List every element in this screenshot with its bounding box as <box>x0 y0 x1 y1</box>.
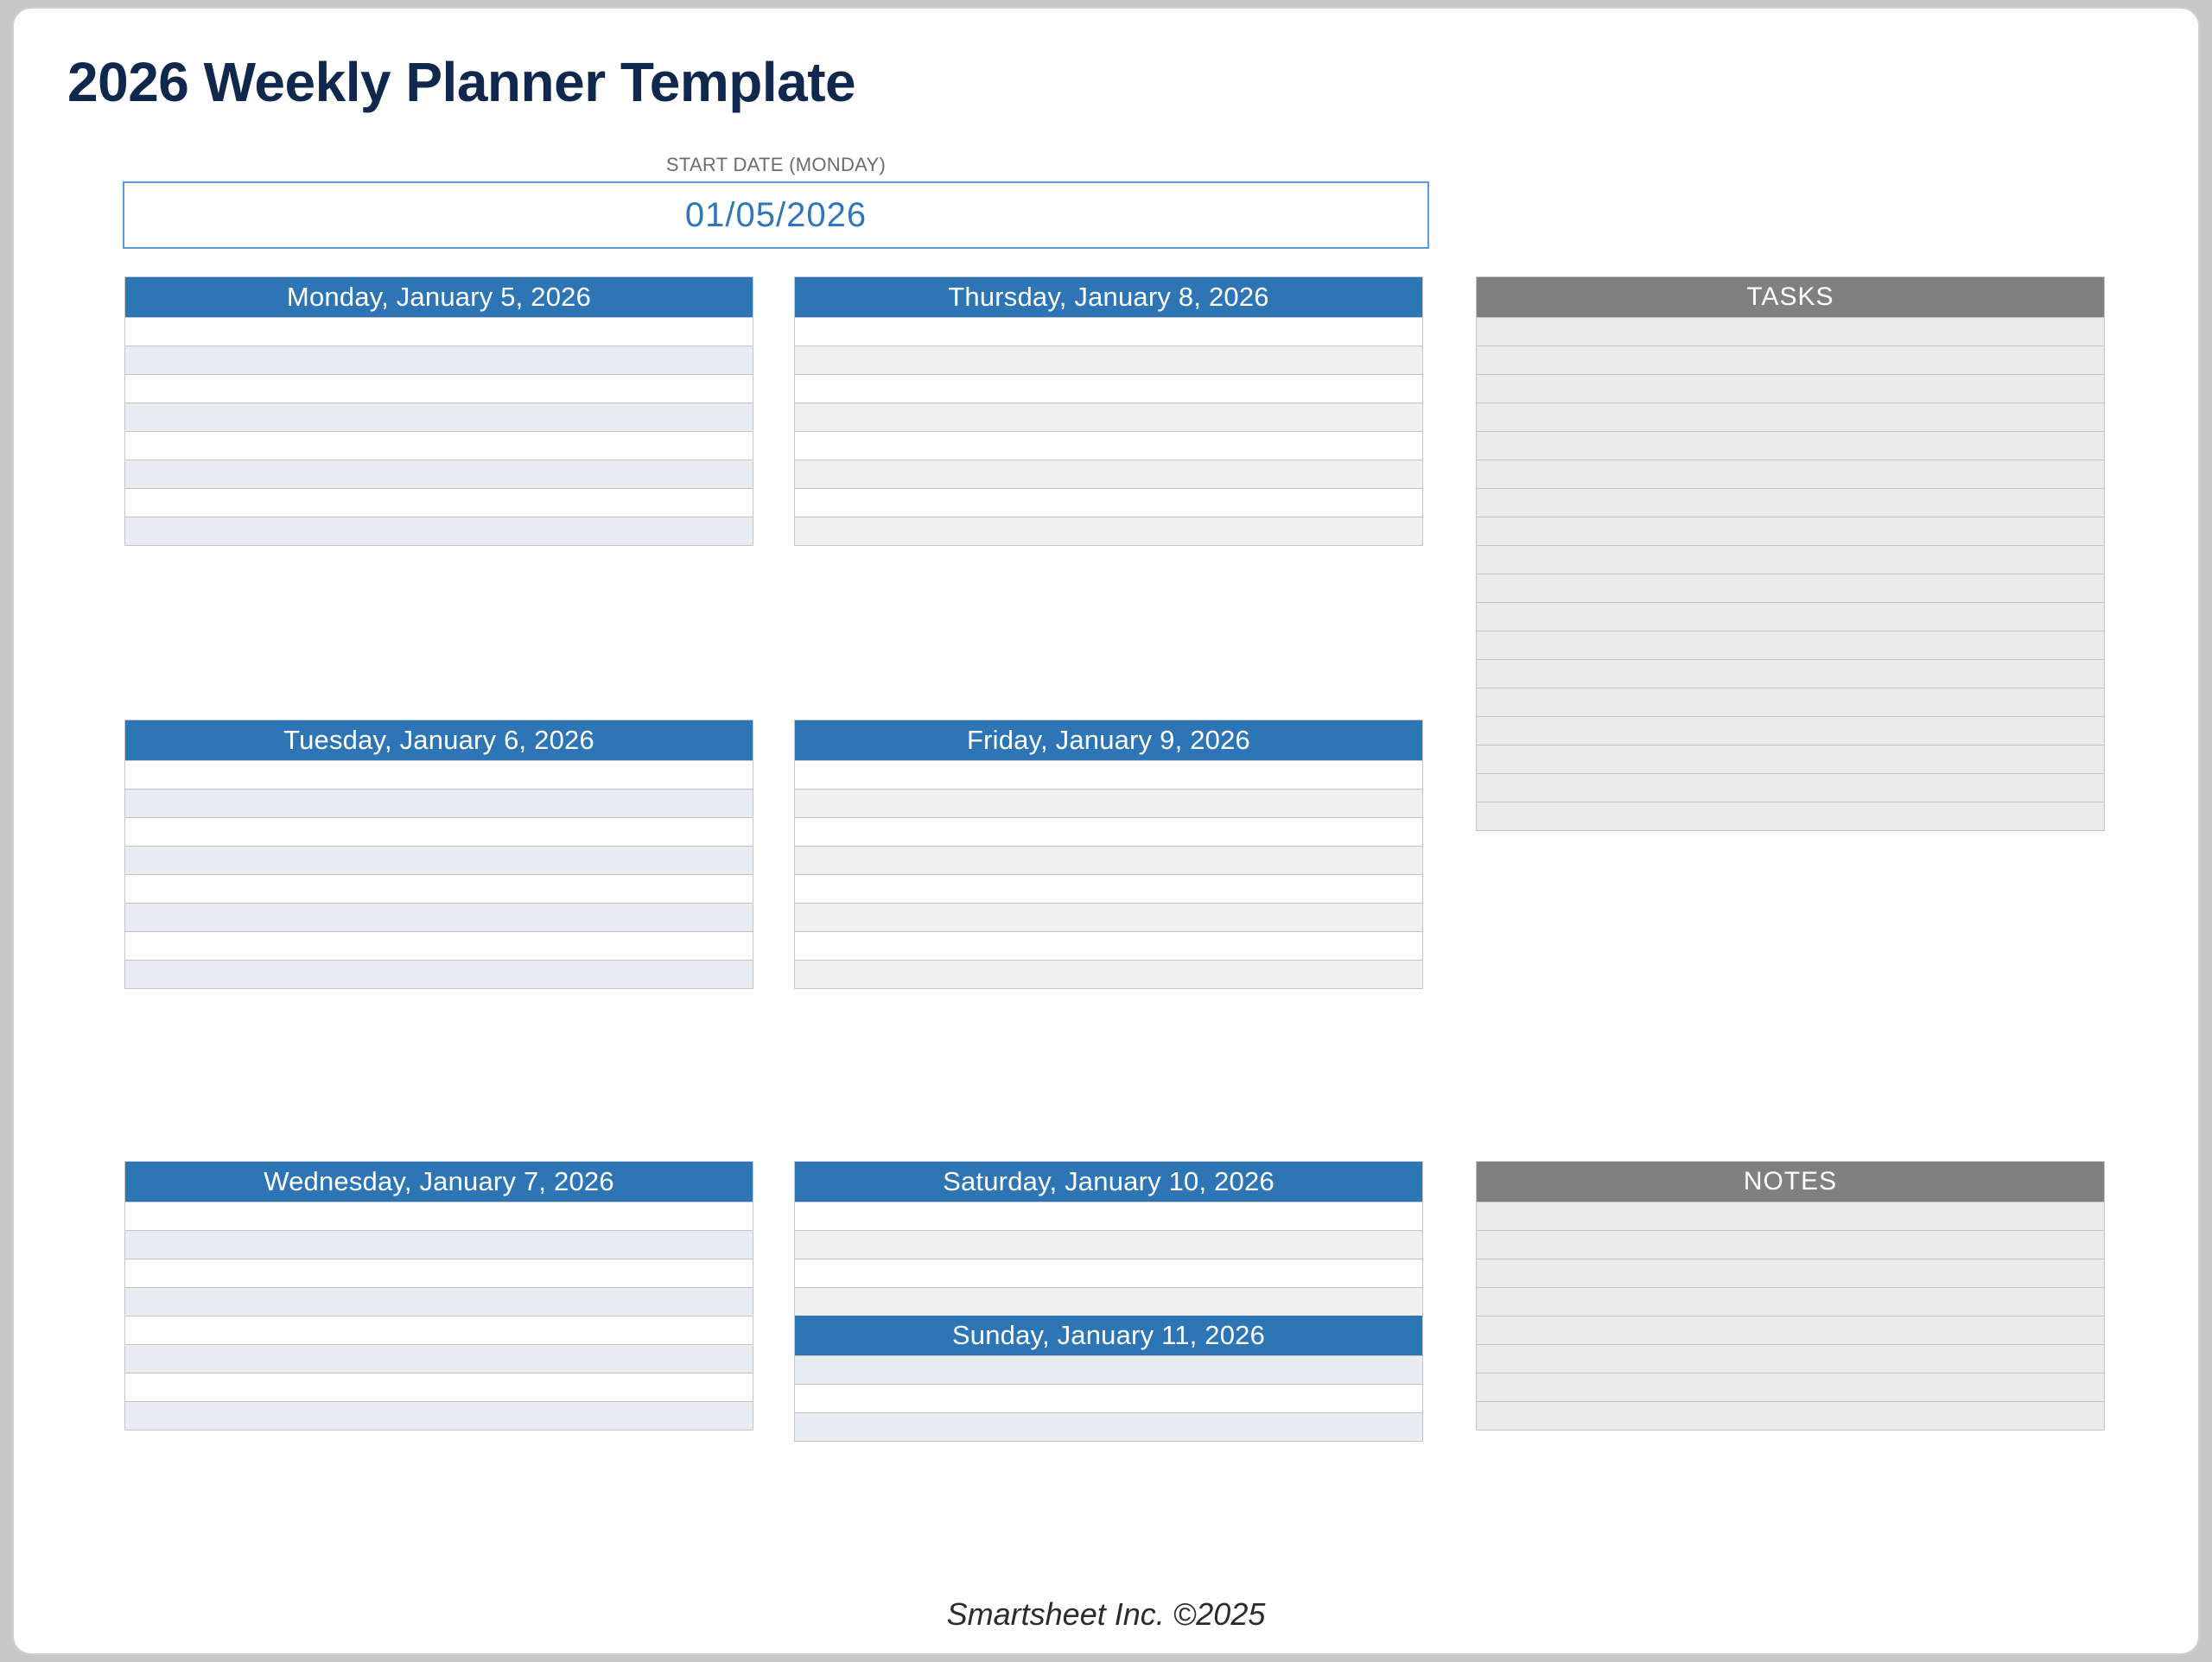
task-row[interactable] <box>1477 631 2104 659</box>
day-monday-row[interactable] <box>125 488 753 517</box>
task-row[interactable] <box>1477 317 2104 346</box>
task-row[interactable] <box>1477 716 2104 745</box>
note-row[interactable] <box>1477 1202 2104 1230</box>
day-wednesday-row[interactable] <box>125 1373 753 1401</box>
day-monday-row[interactable] <box>125 317 753 346</box>
day-thursday-row[interactable] <box>795 460 1422 488</box>
day-tuesday-row[interactable] <box>125 846 753 874</box>
day-tuesday-row[interactable] <box>125 789 753 817</box>
task-row[interactable] <box>1477 488 2104 517</box>
day-wednesday-row[interactable] <box>125 1316 753 1344</box>
day-wednesday-row[interactable] <box>125 1202 753 1230</box>
task-row[interactable] <box>1477 745 2104 773</box>
day-header-thursday: Thursday, January 8, 2026 <box>795 277 1422 317</box>
task-row[interactable] <box>1477 659 2104 688</box>
day-header-friday: Friday, January 9, 2026 <box>795 720 1422 760</box>
note-row[interactable] <box>1477 1401 2104 1430</box>
day-tuesday-row[interactable] <box>125 817 753 846</box>
day-thursday-row[interactable] <box>795 431 1422 460</box>
day-friday-row[interactable] <box>795 874 1422 903</box>
day-thursday-row[interactable] <box>795 403 1422 431</box>
day-saturday-row[interactable] <box>795 1259 1422 1287</box>
day-header-monday: Monday, January 5, 2026 <box>125 277 753 317</box>
task-row[interactable] <box>1477 403 2104 431</box>
task-row[interactable] <box>1477 431 2104 460</box>
day-saturday-row[interactable] <box>795 1287 1422 1316</box>
task-row[interactable] <box>1477 374 2104 403</box>
task-row[interactable] <box>1477 574 2104 602</box>
day-header-tuesday: Tuesday, January 6, 2026 <box>125 720 753 760</box>
note-row[interactable] <box>1477 1259 2104 1287</box>
day-friday-row[interactable] <box>795 903 1422 931</box>
panel-header-notes: NOTES <box>1477 1162 2104 1202</box>
day-tuesday-row[interactable] <box>125 960 753 988</box>
note-row[interactable] <box>1477 1344 2104 1373</box>
day-friday-row[interactable] <box>795 817 1422 846</box>
planner-grid: Monday, January 5, 2026Tuesday, January … <box>14 9 2198 1653</box>
task-row[interactable] <box>1477 460 2104 488</box>
day-monday-row[interactable] <box>125 431 753 460</box>
day-monday-row[interactable] <box>125 517 753 545</box>
day-saturday-row[interactable] <box>795 1230 1422 1259</box>
day-monday-row[interactable] <box>125 403 753 431</box>
note-row[interactable] <box>1477 1316 2104 1344</box>
day-monday-row[interactable] <box>125 346 753 374</box>
day-friday-row[interactable] <box>795 931 1422 960</box>
day-tuesday-row[interactable] <box>125 874 753 903</box>
task-row[interactable] <box>1477 517 2104 545</box>
day-saturday-row[interactable] <box>795 1202 1422 1230</box>
day-tuesday-row[interactable] <box>125 760 753 789</box>
day-friday-row[interactable] <box>795 760 1422 789</box>
day-tuesday-row[interactable] <box>125 903 753 931</box>
day-friday-row[interactable] <box>795 846 1422 874</box>
day-sunday-row[interactable] <box>795 1384 1422 1412</box>
note-row[interactable] <box>1477 1287 2104 1316</box>
footer-copyright: Smartsheet Inc. ©2025 <box>14 1596 2198 1633</box>
day-monday-row[interactable] <box>125 460 753 488</box>
day-header-wednesday: Wednesday, January 7, 2026 <box>125 1162 753 1202</box>
panel-header-tasks: TASKS <box>1477 277 2104 317</box>
note-row[interactable] <box>1477 1373 2104 1401</box>
task-row[interactable] <box>1477 602 2104 631</box>
task-row[interactable] <box>1477 346 2104 374</box>
day-thursday-row[interactable] <box>795 488 1422 517</box>
task-row[interactable] <box>1477 545 2104 574</box>
day-wednesday-row[interactable] <box>125 1287 753 1316</box>
day-thursday-row[interactable] <box>795 317 1422 346</box>
day-friday-row[interactable] <box>795 789 1422 817</box>
day-thursday-row[interactable] <box>795 346 1422 374</box>
day-wednesday-row[interactable] <box>125 1230 753 1259</box>
day-monday-row[interactable] <box>125 374 753 403</box>
day-friday-row[interactable] <box>795 960 1422 988</box>
day-thursday-row[interactable] <box>795 517 1422 545</box>
note-row[interactable] <box>1477 1230 2104 1259</box>
day-tuesday-row[interactable] <box>125 931 753 960</box>
day-wednesday-row[interactable] <box>125 1344 753 1373</box>
planner-page: 2026 Weekly Planner Template START DATE … <box>12 7 2200 1655</box>
task-row[interactable] <box>1477 688 2104 716</box>
day-sunday-row[interactable] <box>795 1355 1422 1384</box>
day-sunday-row[interactable] <box>795 1412 1422 1441</box>
day-wednesday-row[interactable] <box>125 1401 753 1430</box>
task-row[interactable] <box>1477 773 2104 802</box>
day-header-saturday: Saturday, January 10, 2026 <box>795 1162 1422 1202</box>
day-header-sunday: Sunday, January 11, 2026 <box>795 1316 1422 1355</box>
day-wednesday-row[interactable] <box>125 1259 753 1287</box>
task-row[interactable] <box>1477 802 2104 830</box>
day-thursday-row[interactable] <box>795 374 1422 403</box>
